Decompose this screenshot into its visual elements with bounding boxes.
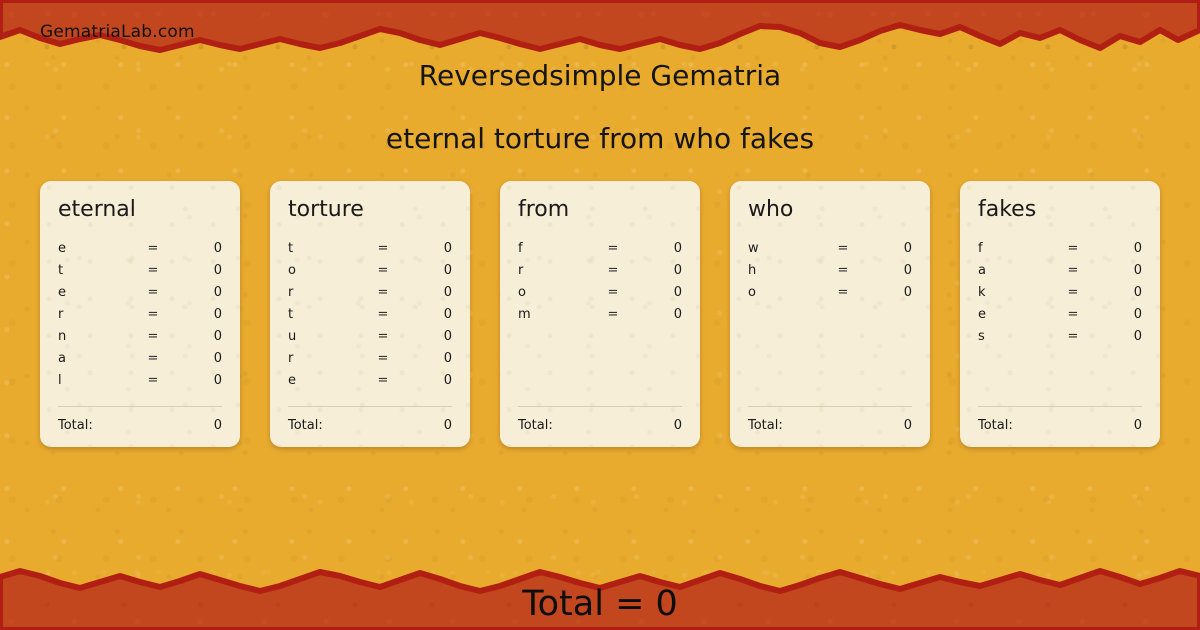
letter-value-list: t=0o=0r=0t=0u=0r=0e=0 (286, 237, 454, 406)
letter-glyph: w (746, 241, 824, 256)
letter-value-list: e=0t=0e=0r=0n=0a=0l=0 (56, 237, 224, 406)
equals-sign: = (364, 241, 402, 256)
equals-sign: = (364, 285, 402, 300)
equals-sign: = (364, 263, 402, 278)
letter-glyph: l (56, 373, 134, 388)
card-total-row: Total:0 (286, 407, 454, 433)
letter-row: n=0 (56, 325, 224, 347)
letter-value-list: f=0r=0o=0m=0 (516, 237, 684, 406)
letter-glyph: a (56, 351, 134, 366)
equals-sign: = (824, 263, 862, 278)
letter-glyph: f (516, 241, 594, 256)
letter-value: 0 (632, 307, 684, 322)
letter-row: f=0 (976, 237, 1144, 259)
letter-row: r=0 (286, 347, 454, 369)
letter-glyph: e (286, 373, 364, 388)
letter-row: k=0 (976, 281, 1144, 303)
letter-value: 0 (172, 285, 224, 300)
letter-value: 0 (862, 241, 914, 256)
letter-row: e=0 (56, 237, 224, 259)
letter-value: 0 (402, 263, 454, 278)
equals-sign: = (134, 285, 172, 300)
letter-value: 0 (632, 285, 684, 300)
letter-row: s=0 (976, 325, 1144, 347)
letter-row: f=0 (516, 237, 684, 259)
letter-value: 0 (862, 285, 914, 300)
letter-glyph: u (286, 329, 364, 344)
word-card: fakesf=0a=0k=0e=0s=0Total:0 (960, 181, 1160, 447)
letter-glyph: r (286, 285, 364, 300)
equals-sign: = (134, 241, 172, 256)
letter-glyph: m (516, 307, 594, 322)
letter-glyph: e (56, 241, 134, 256)
word-card: eternale=0t=0e=0r=0n=0a=0l=0Total:0 (40, 181, 240, 447)
equals-sign: = (364, 329, 402, 344)
site-logo[interactable]: GematriaLab.com (40, 22, 195, 42)
equals-sign: = (134, 307, 172, 322)
letter-value: 0 (1092, 307, 1144, 322)
equals-sign: = (594, 241, 632, 256)
equals-sign: = (594, 263, 632, 278)
letter-row: o=0 (286, 259, 454, 281)
equals-sign: = (134, 263, 172, 278)
equals-sign: = (1054, 263, 1092, 278)
equals-sign: = (1054, 307, 1092, 322)
letter-value: 0 (402, 373, 454, 388)
card-total-row: Total:0 (976, 407, 1144, 433)
equals-sign: = (134, 351, 172, 366)
equals-sign: = (1054, 285, 1092, 300)
card-total-value: 0 (674, 418, 684, 433)
letter-value: 0 (402, 351, 454, 366)
letter-row: e=0 (976, 303, 1144, 325)
equals-sign: = (1054, 241, 1092, 256)
card-total-label: Total: (746, 418, 904, 433)
letter-value: 0 (172, 373, 224, 388)
letter-value: 0 (1092, 263, 1144, 278)
word-card: torturet=0o=0r=0t=0u=0r=0e=0Total:0 (270, 181, 470, 447)
letter-glyph: r (516, 263, 594, 278)
letter-row: t=0 (56, 259, 224, 281)
letter-row: t=0 (286, 237, 454, 259)
letter-glyph: t (286, 307, 364, 322)
equals-sign: = (594, 307, 632, 322)
letter-value-list: f=0a=0k=0e=0s=0 (976, 237, 1144, 406)
card-total-value: 0 (904, 418, 914, 433)
word-card-title: from (518, 199, 684, 221)
letter-value: 0 (402, 241, 454, 256)
card-total-row: Total:0 (746, 407, 914, 433)
letter-value: 0 (402, 307, 454, 322)
word-card-title: torture (288, 199, 454, 221)
letter-value: 0 (172, 307, 224, 322)
letter-row: a=0 (976, 259, 1144, 281)
letter-glyph: k (976, 285, 1054, 300)
letter-value: 0 (862, 263, 914, 278)
equals-sign: = (824, 241, 862, 256)
letter-glyph: o (746, 285, 824, 300)
letter-row: o=0 (746, 281, 914, 303)
equals-sign: = (134, 373, 172, 388)
letter-value: 0 (172, 329, 224, 344)
card-total-value: 0 (214, 418, 224, 433)
letter-value: 0 (172, 351, 224, 366)
letter-value: 0 (1092, 241, 1144, 256)
letter-row: r=0 (56, 303, 224, 325)
letter-row: m=0 (516, 303, 684, 325)
phrase-text: eternal torture from who fakes (0, 122, 1200, 155)
letter-glyph: e (56, 285, 134, 300)
letter-value: 0 (1092, 285, 1144, 300)
card-total-label: Total: (286, 418, 444, 433)
letter-value: 0 (632, 263, 684, 278)
equals-sign: = (364, 351, 402, 366)
word-card: fromf=0r=0o=0m=0Total:0 (500, 181, 700, 447)
card-total-value: 0 (1134, 418, 1144, 433)
card-total-label: Total: (976, 418, 1134, 433)
letter-glyph: e (976, 307, 1054, 322)
gematria-result-card: GematriaLab.com Reversedsimple Gematria … (0, 0, 1200, 630)
word-card: whow=0h=0o=0Total:0 (730, 181, 930, 447)
letter-row: r=0 (286, 281, 454, 303)
letter-row: e=0 (56, 281, 224, 303)
word-card-title: eternal (58, 199, 224, 221)
letter-row: a=0 (56, 347, 224, 369)
equals-sign: = (824, 285, 862, 300)
letter-value: 0 (1092, 329, 1144, 344)
equals-sign: = (594, 285, 632, 300)
word-card-title: who (748, 199, 914, 221)
letter-glyph: f (976, 241, 1054, 256)
letter-glyph: n (56, 329, 134, 344)
letter-value: 0 (172, 241, 224, 256)
equals-sign: = (364, 307, 402, 322)
page-title: Reversedsimple Gematria (0, 59, 1200, 92)
letter-row: o=0 (516, 281, 684, 303)
letter-value: 0 (402, 329, 454, 344)
letter-value: 0 (172, 263, 224, 278)
letter-row: t=0 (286, 303, 454, 325)
word-card-title: fakes (978, 199, 1144, 221)
letter-glyph: r (56, 307, 134, 322)
letter-row: h=0 (746, 259, 914, 281)
letter-row: w=0 (746, 237, 914, 259)
card-total-row: Total:0 (516, 407, 684, 433)
letter-glyph: t (56, 263, 134, 278)
word-card-list: eternale=0t=0e=0r=0n=0a=0l=0Total:0tortu… (0, 181, 1200, 447)
card-total-label: Total: (516, 418, 674, 433)
letter-row: e=0 (286, 369, 454, 391)
equals-sign: = (134, 329, 172, 344)
letter-glyph: t (286, 241, 364, 256)
letter-glyph: r (286, 351, 364, 366)
letter-value: 0 (632, 241, 684, 256)
letter-glyph: o (286, 263, 364, 278)
letter-row: l=0 (56, 369, 224, 391)
card-total-label: Total: (56, 418, 214, 433)
card-total-value: 0 (444, 418, 454, 433)
equals-sign: = (1054, 329, 1092, 344)
letter-glyph: a (976, 263, 1054, 278)
letter-glyph: o (516, 285, 594, 300)
letter-value: 0 (402, 285, 454, 300)
letter-row: u=0 (286, 325, 454, 347)
grand-total: Total = 0 (0, 584, 1200, 624)
equals-sign: = (364, 373, 402, 388)
letter-value-list: w=0h=0o=0 (746, 237, 914, 406)
card-total-row: Total:0 (56, 407, 224, 433)
letter-glyph: h (746, 263, 824, 278)
letter-glyph: s (976, 329, 1054, 344)
letter-row: r=0 (516, 259, 684, 281)
